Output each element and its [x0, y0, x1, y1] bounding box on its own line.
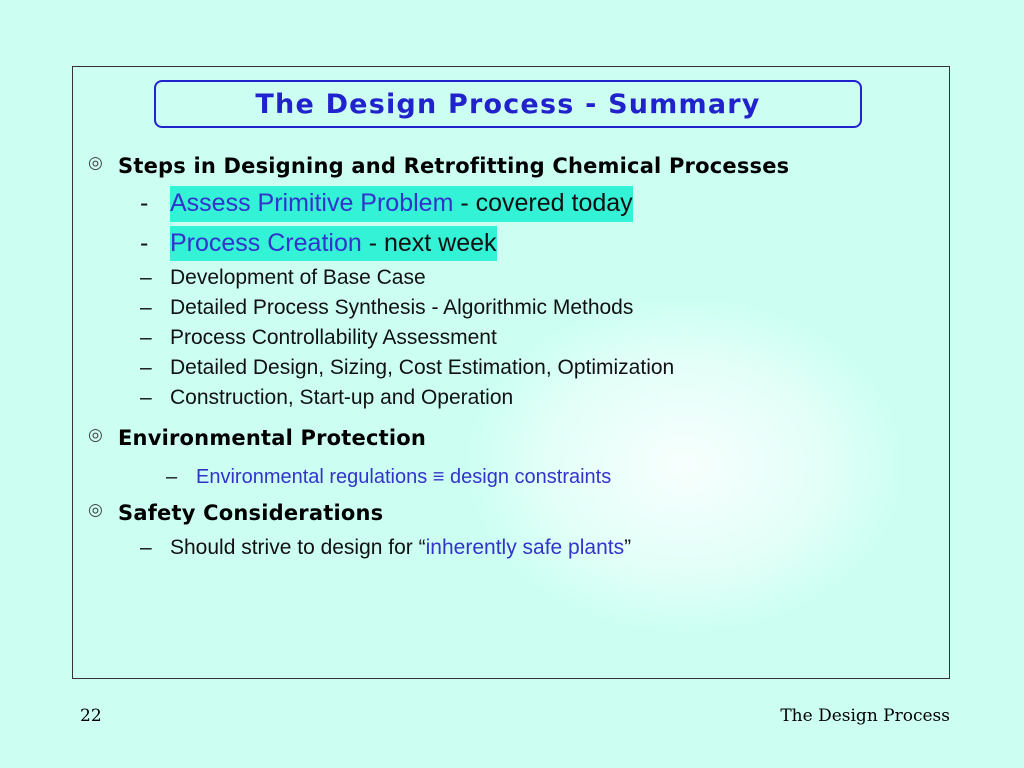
list-item: - Assess Primitive Problem - covered tod… — [140, 186, 958, 222]
target-bullet-icon: ◎ — [88, 152, 118, 175]
list-item-label: Assess Primitive Problem — [170, 189, 453, 217]
title-box: The Design Process - Summary — [154, 80, 862, 128]
list-item: – Construction, Start-up and Operation — [140, 383, 958, 413]
slide: The Design Process - Summary ◎ Steps in … — [0, 0, 1024, 768]
list-item-label: Detailed Design, Sizing, Cost Estimation… — [170, 353, 674, 383]
list-item-label: Process Controllability Assessment — [170, 323, 497, 353]
list-dash: – — [140, 323, 170, 353]
list-item-label: Construction, Start-up and Operation — [170, 383, 513, 413]
list-item: – Environmental regulations ≡ design con… — [166, 463, 958, 491]
section-heading-label: Safety Considerations — [118, 499, 383, 527]
list-dash: – — [166, 463, 196, 491]
list-dash: - — [140, 186, 170, 222]
list-item-tail: - next week — [362, 229, 497, 257]
list-dash: – — [140, 383, 170, 413]
list-dash: – — [140, 353, 170, 383]
highlight-band: Process Creation - next week — [170, 226, 497, 262]
section-heading-label: Steps in Designing and Retrofitting Chem… — [118, 152, 789, 180]
list-item: - Process Creation - next week — [140, 226, 958, 262]
target-bullet-icon: ◎ — [88, 424, 118, 447]
page-title: The Design Process - Summary — [255, 89, 760, 120]
list-item: – Process Controllability Assessment — [140, 323, 958, 353]
list-item-emphasis: inherently safe plants — [426, 536, 624, 559]
list-item-label: Process Creation — [170, 229, 362, 257]
list-item-text: Should strive to design for “inherently … — [170, 533, 631, 563]
list-dash: – — [140, 533, 170, 563]
list-item: – Detailed Design, Sizing, Cost Estimati… — [140, 353, 958, 383]
target-bullet-icon: ◎ — [88, 499, 118, 522]
slide-content: ◎ Steps in Designing and Retrofitting Ch… — [88, 148, 958, 563]
section-heading-label: Environmental Protection — [118, 424, 426, 452]
list-item-prefix: Should strive to design for “ — [170, 536, 426, 559]
list-item: – Should strive to design for “inherentl… — [140, 533, 958, 563]
list-item: – Development of Base Case — [140, 263, 958, 293]
footer-title: The Design Process — [780, 706, 950, 726]
list-item-label: Detailed Process Synthesis - Algorithmic… — [170, 293, 633, 323]
page-number: 22 — [80, 706, 102, 726]
list-item-label: Environmental regulations ≡ design const… — [196, 463, 611, 491]
list-dash: - — [140, 226, 170, 262]
section-heading-environmental: ◎ Environmental Protection — [88, 424, 958, 452]
section-heading-steps: ◎ Steps in Designing and Retrofitting Ch… — [88, 152, 958, 180]
list-dash: – — [140, 293, 170, 323]
list-item-label: Development of Base Case — [170, 263, 426, 293]
list-item: – Detailed Process Synthesis - Algorithm… — [140, 293, 958, 323]
highlight-band: Assess Primitive Problem - covered today — [170, 186, 633, 222]
section-heading-safety: ◎ Safety Considerations — [88, 499, 958, 527]
list-item-tail: - covered today — [453, 189, 632, 217]
list-item-suffix: ” — [624, 536, 631, 559]
list-dash: – — [140, 263, 170, 293]
